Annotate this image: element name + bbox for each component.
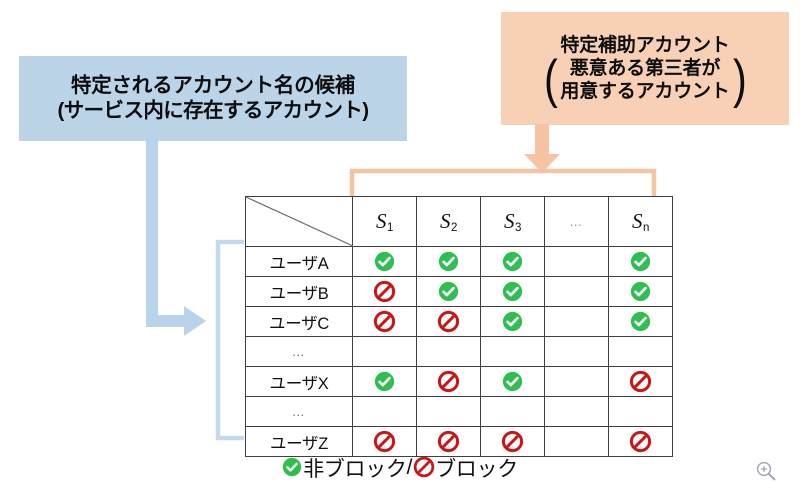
row-label-user: ユーザX xyxy=(246,367,353,397)
table-header: S1 S2 S3 … Sn xyxy=(246,197,673,247)
cell-empty xyxy=(417,337,481,367)
cell-status-ok xyxy=(353,247,417,277)
callout-left-line2: (サービス内に存在するアカウント) xyxy=(58,98,369,123)
callout-left-account-candidates: 特定されるアカウント名の候補 (サービス内に存在するアカウント) xyxy=(19,56,407,141)
row-label-user: ユーザB xyxy=(246,277,353,307)
table-row: ユーザA xyxy=(246,247,673,277)
callout-right-paren-group: ( 悪意ある第三者が 用意するアカウント ) xyxy=(505,58,785,104)
close-paren-glyph: ) xyxy=(733,58,747,101)
cell-status-block xyxy=(353,307,417,337)
block-circle-icon xyxy=(374,311,395,332)
cell-status-ok xyxy=(609,277,673,307)
cell-status-block xyxy=(417,367,481,397)
column-header-ellipsis: … xyxy=(545,197,609,247)
block-circle-icon xyxy=(374,281,395,302)
column-header-s3: S3 xyxy=(481,197,545,247)
block-circle-icon xyxy=(630,431,651,452)
legend-separator: / xyxy=(407,456,413,480)
check-circle-icon xyxy=(502,251,523,272)
open-paren-glyph: ( xyxy=(544,58,558,101)
cell-status-ok xyxy=(417,247,481,277)
cell-status-block xyxy=(609,367,673,397)
cell-empty xyxy=(417,397,481,427)
check-circle-icon xyxy=(630,311,651,332)
table-row: ユーザB xyxy=(246,277,673,307)
table-row: ユーザX xyxy=(246,367,673,397)
diagonal-divider-icon xyxy=(246,197,353,246)
corner-cell-diagonal xyxy=(246,197,353,247)
cell-empty xyxy=(481,337,545,367)
table-row: ユーザC xyxy=(246,307,673,337)
cell-status-ok xyxy=(417,277,481,307)
callout-right-inner-line1: 悪意ある第三者が xyxy=(570,58,720,81)
check-circle-icon xyxy=(630,251,651,272)
slide-canvas: 特定されるアカウント名の候補 (サービス内に存在するアカウント) 特定補助アカウ… xyxy=(0,0,800,495)
cell-status-ok xyxy=(481,367,545,397)
column-header-sn: Sn xyxy=(609,197,673,247)
check-circle-icon xyxy=(502,371,523,392)
s1-subscript: 1 xyxy=(387,222,393,234)
table-header-row: S1 S2 S3 … Sn xyxy=(246,197,673,247)
block-circle-icon xyxy=(438,311,459,332)
row-label-user: ユーザC xyxy=(246,307,353,337)
column-header-s1: S1 xyxy=(353,197,417,247)
check-circle-icon xyxy=(374,251,395,272)
block-circle-icon xyxy=(630,371,651,392)
table-body: ユーザAユーザBユーザC…ユーザX…ユーザZ xyxy=(246,247,673,457)
cell-empty xyxy=(353,337,417,367)
legend: 非ブロック / ブロック xyxy=(0,452,800,482)
cell-status-ok xyxy=(481,277,545,307)
magnifier-plus-icon[interactable] xyxy=(753,458,779,484)
block-matrix-table: S1 S2 S3 … Sn ユーザAユーザBユーザC…ユーザX…ユーザZ xyxy=(245,196,673,457)
cell-empty xyxy=(545,247,609,277)
callout-left-line1: 特定されるアカウント名の候補 xyxy=(71,73,355,98)
block-circle-icon xyxy=(374,431,395,452)
check-circle-icon xyxy=(282,457,302,477)
row-label-ellipsis: … xyxy=(246,397,353,427)
callout-right-inner-lines: 悪意ある第三者が 用意するアカウント xyxy=(560,58,729,104)
check-circle-icon xyxy=(438,281,459,302)
cell-empty xyxy=(545,277,609,307)
block-circle-icon xyxy=(438,431,459,452)
cell-empty xyxy=(545,337,609,367)
row-label-user: ユーザA xyxy=(246,247,353,277)
sn-subscript: n xyxy=(643,222,649,234)
row-label-ellipsis: … xyxy=(246,337,353,367)
s2-subscript: 2 xyxy=(451,222,457,234)
s3-subscript: 3 xyxy=(515,222,521,234)
callout-right-line1: 特定補助アカウント xyxy=(560,34,729,57)
cell-status-ok xyxy=(481,247,545,277)
cell-empty xyxy=(545,397,609,427)
cell-status-ok xyxy=(481,307,545,337)
check-circle-icon xyxy=(374,371,395,392)
column-header-s2: S2 xyxy=(417,197,481,247)
block-circle-icon xyxy=(438,371,459,392)
cell-status-ok xyxy=(609,247,673,277)
cell-empty xyxy=(609,397,673,427)
cell-status-block xyxy=(353,277,417,307)
blue-row-bracket xyxy=(212,240,246,440)
cell-empty xyxy=(545,367,609,397)
table-row-ellipsis: … xyxy=(246,397,673,427)
cell-status-ok xyxy=(353,367,417,397)
callout-right-helper-account: 特定補助アカウント ( 悪意ある第三者が 用意するアカウント ) xyxy=(501,12,789,125)
cell-empty xyxy=(545,307,609,337)
legend-label-non-block: 非ブロック xyxy=(303,453,407,483)
legend-label-block: ブロック xyxy=(435,453,518,483)
block-circle-icon xyxy=(414,457,434,477)
check-circle-icon xyxy=(630,281,651,302)
check-circle-icon xyxy=(502,311,523,332)
cell-empty xyxy=(609,337,673,367)
cell-status-ok xyxy=(609,307,673,337)
cell-empty xyxy=(353,397,417,427)
block-circle-icon xyxy=(502,431,523,452)
callout-right-inner-line2: 用意するアカウント xyxy=(560,81,729,104)
check-circle-icon xyxy=(502,281,523,302)
cell-status-block xyxy=(417,307,481,337)
table-row-ellipsis: … xyxy=(246,337,673,367)
check-circle-icon xyxy=(438,251,459,272)
cell-empty xyxy=(481,397,545,427)
